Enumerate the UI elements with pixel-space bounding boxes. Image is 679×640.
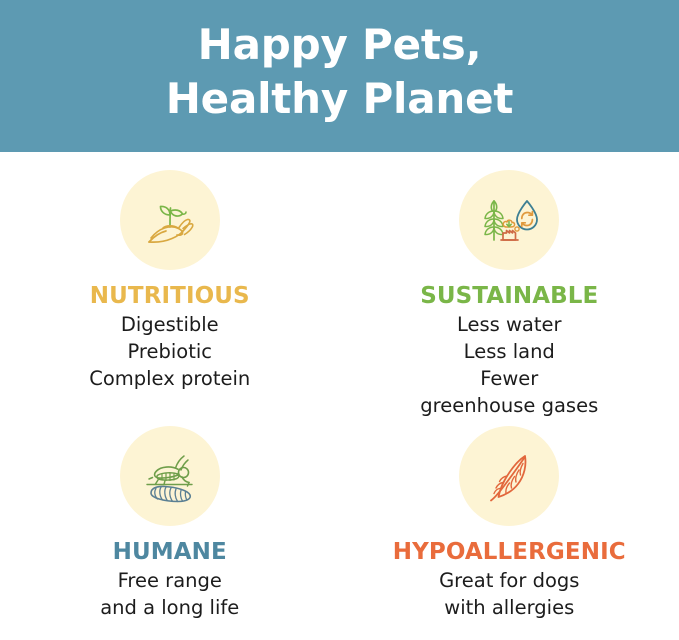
feature-grid: NUTRITIOUS Digestible Prebiotic Complex … <box>0 152 679 622</box>
feature-line: Less water <box>420 312 598 339</box>
feature-title-sustainable: SUSTAINABLE <box>420 284 598 308</box>
icon-circle-nutritious <box>120 170 220 270</box>
feature-line: Great for dogs <box>439 568 579 595</box>
feature-line: Free range <box>100 568 239 595</box>
feature-title-humane: HUMANE <box>113 540 227 564</box>
cricket-and-larva-icon <box>138 444 202 508</box>
feature-line: with allergies <box>439 595 579 622</box>
feature-line: greenhouse gases <box>420 393 598 420</box>
icon-circle-humane <box>120 426 220 526</box>
banner-title-line-1: Happy Pets, <box>198 18 482 72</box>
feature-line: Digestible <box>89 312 250 339</box>
feature-title-hypoallergenic: HYPOALLERGENIC <box>393 540 626 564</box>
feature-line: and a long life <box>100 595 239 622</box>
header-banner: Happy Pets, Healthy Planet <box>0 0 679 152</box>
feature-card-humane: HUMANE Free range and a long life <box>0 426 340 622</box>
feature-lines-hypoallergenic: Great for dogs with allergies <box>439 568 579 622</box>
feature-title-nutritious: NUTRITIOUS <box>90 284 250 308</box>
feature-lines-nutritious: Digestible Prebiotic Complex protein <box>89 312 250 393</box>
feather-icon <box>480 447 538 505</box>
infographic-root: Happy Pets, Healthy Planet <box>0 0 679 640</box>
banner-title-line-2: Healthy Planet <box>166 72 514 126</box>
feature-line: Fewer <box>420 366 598 393</box>
feature-line: Prebiotic <box>89 339 250 366</box>
feature-lines-humane: Free range and a long life <box>100 568 239 622</box>
feature-card-hypoallergenic: HYPOALLERGENIC Great for dogs with aller… <box>340 426 679 622</box>
icon-circle-sustainable <box>459 170 559 270</box>
feature-card-sustainable: SUSTAINABLE Less water Less land Fewer g… <box>340 170 679 420</box>
hand-holding-sprout-icon <box>139 189 201 251</box>
feature-card-nutritious: NUTRITIOUS Digestible Prebiotic Complex … <box>0 170 340 420</box>
plant-factory-waterdrop-recycle-icon <box>477 188 541 252</box>
icon-circle-hypoallergenic <box>459 426 559 526</box>
feature-line: Less land <box>420 339 598 366</box>
feature-lines-sustainable: Less water Less land Fewer greenhouse ga… <box>420 312 598 420</box>
feature-line: Complex protein <box>89 366 250 393</box>
